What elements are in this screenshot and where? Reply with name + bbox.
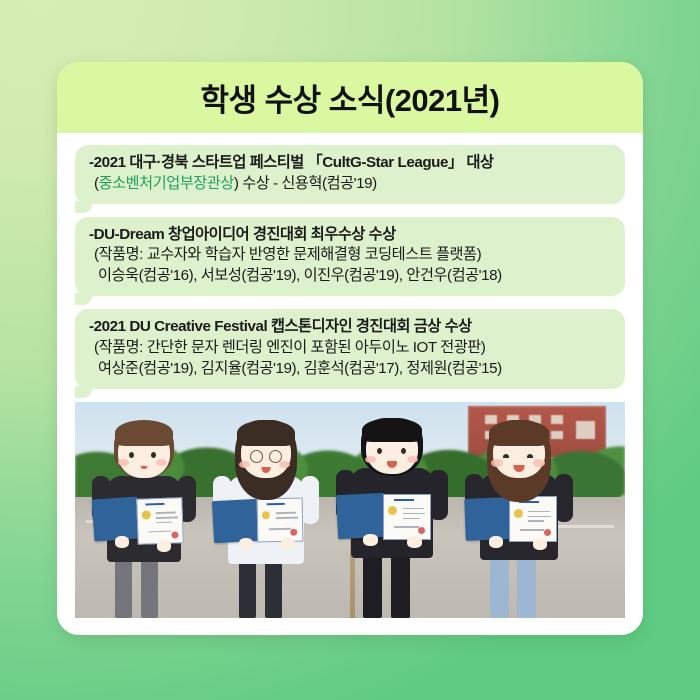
certificate-folder: [336, 492, 386, 538]
award-2-title: -DU-Dream 창업아이디어 경진대회 최우수상 수상: [89, 225, 611, 246]
student-figure-2: [207, 418, 325, 618]
hair-fringe: [237, 420, 295, 446]
award-1-title: -2021 대구·경북 스타트업 페스티벌 「CultG-Star League…: [89, 153, 611, 174]
certificate-folder: [92, 496, 141, 541]
hair-fringe: [489, 420, 549, 446]
poster-canvas: 학생 수상 소식(2021년) -2021 대구·경북 스타트업 페스티벌 「C…: [0, 0, 700, 700]
certificate: [136, 497, 184, 545]
card-header: 학생 수상 소식(2021년): [57, 62, 643, 133]
award-3-title: -2021 DU Creative Festival 캡스톤디자인 경진대회 금…: [89, 317, 611, 338]
award-1-detail: (중소벤처기업부장관상) 수상 - 신용혁(컴공'19): [94, 174, 611, 195]
hair-fringe: [115, 420, 173, 446]
award-item-2: -DU-Dream 창업아이디어 경진대회 최우수상 수상 (작품명: 교수자와…: [75, 217, 625, 296]
award-1-highlight: 중소벤처기업부장관상: [99, 175, 234, 192]
hair-fringe: [362, 418, 422, 442]
certificate-folder: [212, 498, 260, 542]
certificate: [383, 494, 431, 540]
student-figure-1: [85, 418, 203, 618]
student-figure-3: [331, 414, 453, 618]
glasses-icon: [249, 450, 283, 462]
award-1-recipient: ) 수상 - 신용혁(컴공'19): [234, 175, 377, 192]
certificate: [509, 496, 557, 542]
award-2-recipients: 이승욱(컴공'16), 서보성(컴공'19), 이진우(컴공'19), 안건우(…: [98, 266, 611, 287]
award-3-work: (작품명: 간단한 문자 렌더링 엔진이 포함된 아두이노 IOT 전광판): [94, 338, 611, 359]
award-3-recipients: 여상준(컴공'19), 김지율(컴공'19), 김훈석(컴공'17), 정제원(…: [98, 359, 611, 380]
certificate: [257, 497, 304, 542]
award-item-3: -2021 DU Creative Festival 캡스톤디자인 경진대회 금…: [75, 309, 625, 388]
student-figure-4: [459, 420, 579, 618]
award-2-work: (작품명: 교수자와 학습자 반영한 문제해결형 코딩테스트 플랫폼): [94, 245, 611, 266]
page-title: 학생 수상 소식(2021년): [201, 75, 500, 120]
award-list: -2021 대구·경북 스타트업 페스티벌 「CultG-Star League…: [57, 133, 643, 389]
award-item-1: -2021 대구·경북 스타트업 페스티벌 「CultG-Star League…: [75, 145, 625, 204]
award-ceremony-photo: [75, 402, 625, 618]
award-card: 학생 수상 소식(2021년) -2021 대구·경북 스타트업 페스티벌 「C…: [57, 62, 643, 635]
certificate-folder: [464, 497, 511, 541]
